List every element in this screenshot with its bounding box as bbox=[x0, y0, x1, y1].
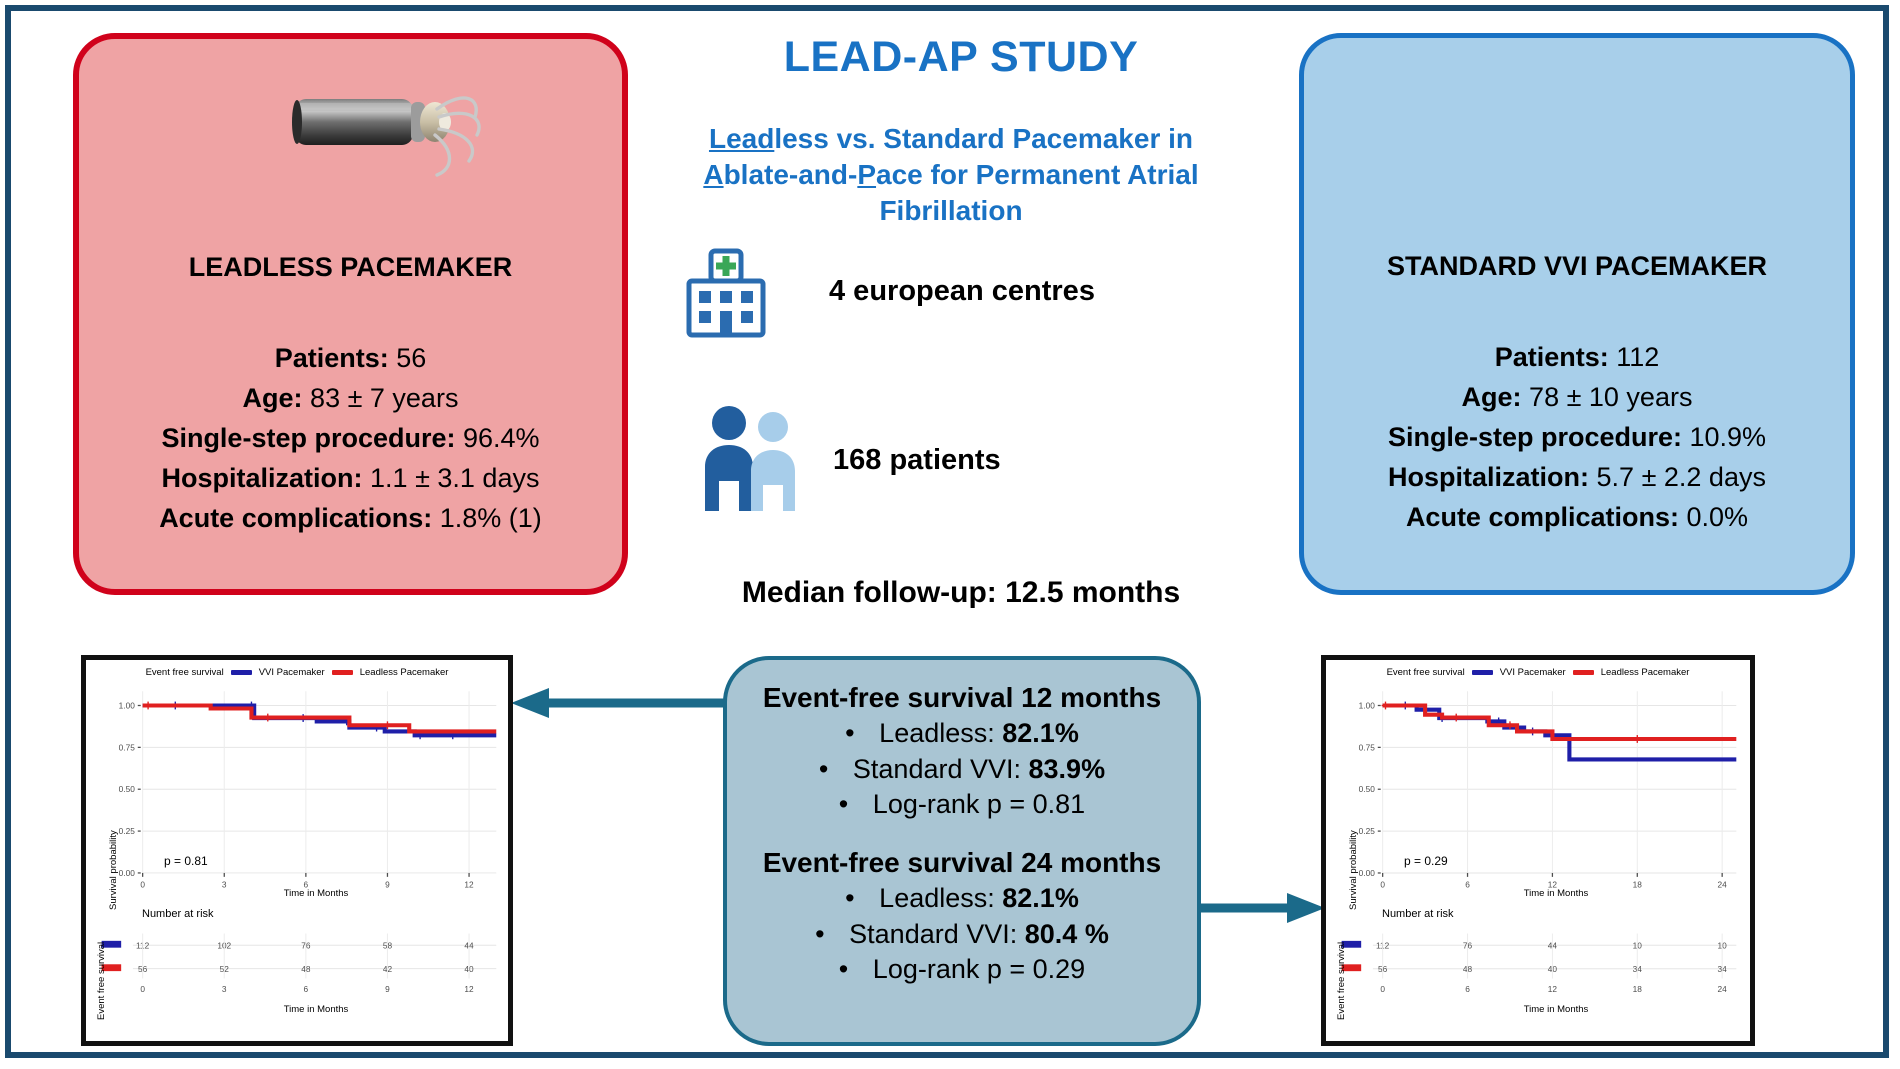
svg-text:0.75: 0.75 bbox=[1359, 742, 1376, 752]
results-summary-box: Event-free survival 12 months •Leadless:… bbox=[723, 656, 1201, 1046]
km-chart-24-month: Event free survival VVI Pacemaker Leadle… bbox=[1321, 655, 1755, 1046]
stat-value: 96.4% bbox=[463, 423, 540, 453]
results-24m-item: •Log-rank p = 0.29 bbox=[745, 952, 1179, 988]
item-label: Log-rank p = 0.29 bbox=[873, 954, 1085, 984]
stat-row: Hospitalization: 1.1 ± 3.1 days bbox=[79, 459, 622, 499]
svg-text:12: 12 bbox=[1548, 984, 1558, 994]
stat-row: Age: 83 ± 7 years bbox=[79, 379, 622, 419]
stat-row: Single-step procedure: 96.4% bbox=[79, 419, 622, 459]
svg-text:1.00: 1.00 bbox=[1359, 700, 1376, 710]
item-value: 82.1% bbox=[1002, 718, 1079, 748]
results-12m-item: •Log-rank p = 0.81 bbox=[745, 787, 1179, 823]
svg-text:0: 0 bbox=[1380, 984, 1385, 994]
svg-text:0.75: 0.75 bbox=[119, 742, 136, 752]
centres-label: 4 european centres bbox=[829, 275, 1095, 308]
km-left-risk-axis-label: Event free survival bbox=[96, 942, 107, 1020]
stat-label: Age: bbox=[1462, 382, 1522, 412]
stat-label: Acute complications: bbox=[159, 503, 432, 533]
svg-text:6: 6 bbox=[1465, 984, 1470, 994]
subtitle-underline-a: A bbox=[703, 159, 723, 190]
stat-label: Hospitalization: bbox=[1388, 462, 1589, 492]
km-chart-12-month: Event free survival VVI Pacemaker Leadle… bbox=[81, 655, 513, 1046]
km-plot-left: 0.000.250.500.751.0003691211210276584456… bbox=[86, 660, 508, 1042]
stat-value: 78 ± 10 years bbox=[1529, 382, 1692, 412]
leadless-pacemaker-capsule-icon bbox=[269, 77, 499, 207]
hospital-icon bbox=[683, 241, 801, 341]
stat-value: 1.1 ± 3.1 days bbox=[370, 463, 539, 493]
item-label: Leadless: bbox=[879, 883, 1002, 913]
stat-value: 112 bbox=[1616, 342, 1659, 372]
patients-row: 168 patients bbox=[691, 401, 1001, 519]
km-right-risk-xlabel: Time in Months bbox=[1386, 1004, 1726, 1015]
svg-text:0.50: 0.50 bbox=[119, 784, 136, 794]
subtitle-line2-b: blate-and- bbox=[724, 159, 858, 190]
stat-value: 1.8% (1) bbox=[440, 503, 542, 533]
left-panel-stats: Patients: 56 Age: 83 ± 7 years Single-st… bbox=[79, 339, 622, 539]
subtitle-line3: Fibrillation bbox=[879, 195, 1022, 226]
subtitle-underline-p: P bbox=[857, 159, 876, 190]
page-title: LEAD-AP STUDY bbox=[651, 33, 1271, 82]
results-12m-item: •Leadless: 82.1% bbox=[745, 716, 1179, 752]
spacer bbox=[745, 823, 1179, 847]
left-panel-title: LEADLESS PACEMAKER bbox=[79, 252, 622, 283]
km-left-risk-title: Number at risk bbox=[142, 908, 214, 920]
item-value: 80.4 % bbox=[1025, 919, 1109, 949]
svg-text:9: 9 bbox=[385, 984, 390, 994]
item-label: Standard VVI: bbox=[849, 919, 1025, 949]
svg-text:0: 0 bbox=[1380, 880, 1385, 890]
bullet-icon: • bbox=[819, 752, 853, 788]
subtitle-line1-rest: less vs. Standard Pacemaker in bbox=[774, 123, 1193, 154]
stat-value: 83 ± 7 years bbox=[310, 383, 458, 413]
stat-value: 10.9% bbox=[1690, 422, 1767, 452]
svg-text:0: 0 bbox=[140, 984, 145, 994]
item-label: Log-rank p = 0.81 bbox=[873, 789, 1085, 819]
svg-text:6: 6 bbox=[304, 984, 309, 994]
results-12m-item: •Standard VVI: 83.9% bbox=[745, 752, 1179, 788]
stat-label: Patients: bbox=[1495, 342, 1609, 372]
stat-value: 5.7 ± 2.2 days bbox=[1597, 462, 1766, 492]
svg-text:0.00: 0.00 bbox=[1359, 868, 1376, 878]
item-value: 83.9% bbox=[1029, 754, 1106, 784]
arrow-to-right-chart bbox=[1199, 891, 1325, 925]
svg-text:0: 0 bbox=[140, 880, 145, 890]
svg-text:0.00: 0.00 bbox=[119, 868, 136, 878]
km-left-pvalue: p = 0.81 bbox=[164, 854, 208, 868]
stat-label: Single-step procedure: bbox=[1388, 422, 1682, 452]
stat-row: Patients: 56 bbox=[79, 339, 622, 379]
stat-row: Acute complications: 0.0% bbox=[1304, 498, 1850, 538]
poster-frame: LEAD-AP STUDY Leadless vs. Standard Pace… bbox=[5, 5, 1889, 1058]
stat-row: Patients: 112 bbox=[1304, 338, 1850, 378]
svg-text:18: 18 bbox=[1633, 984, 1643, 994]
stat-value: 0.0% bbox=[1687, 502, 1749, 532]
results-24m-heading: Event-free survival 24 months bbox=[745, 847, 1179, 879]
subtitle-line2-d: ace for Permanent Atrial bbox=[876, 159, 1199, 190]
bullet-icon: • bbox=[845, 881, 879, 917]
svg-text:12: 12 bbox=[464, 984, 474, 994]
km-left-xlabel: Time in Months bbox=[146, 888, 486, 899]
results-24m-item: •Standard VVI: 80.4 % bbox=[745, 917, 1179, 953]
standard-vvi-pacemaker-panel: STANDARD VVI PACEMAKER Patients: 112 Age… bbox=[1299, 33, 1855, 595]
stat-label: Acute complications: bbox=[1406, 502, 1679, 532]
patients-label: 168 patients bbox=[833, 444, 1001, 477]
right-panel-stats: Patients: 112 Age: 78 ± 10 years Single-… bbox=[1304, 338, 1850, 538]
km-right-risk-title: Number at risk bbox=[1382, 908, 1454, 920]
bullet-icon: • bbox=[839, 787, 873, 823]
stat-value: 56 bbox=[396, 343, 426, 373]
svg-text:3: 3 bbox=[222, 984, 227, 994]
stat-row: Hospitalization: 5.7 ± 2.2 days bbox=[1304, 458, 1850, 498]
right-panel-title: STANDARD VVI PACEMAKER bbox=[1304, 251, 1850, 282]
km-plot-right: 0.000.250.500.751.0006121824112764410105… bbox=[1326, 660, 1750, 1042]
km-left-risk-xlabel: Time in Months bbox=[146, 1004, 486, 1015]
people-icon bbox=[691, 401, 809, 519]
item-label: Standard VVI: bbox=[853, 754, 1029, 784]
bullet-icon: • bbox=[815, 917, 849, 953]
km-right-xlabel: Time in Months bbox=[1386, 888, 1726, 899]
km-left-ylabel: Survival probability bbox=[108, 830, 119, 910]
svg-text:0.25: 0.25 bbox=[1359, 826, 1376, 836]
km-right-ylabel: Survival probability bbox=[1348, 830, 1359, 910]
bullet-icon: • bbox=[839, 952, 873, 988]
median-followup-label: Median follow-up: 12.5 months bbox=[631, 576, 1291, 610]
page-subtitle: Leadless vs. Standard Pacemaker in Ablat… bbox=[651, 121, 1251, 228]
results-24m-item: •Leadless: 82.1% bbox=[745, 881, 1179, 917]
svg-text:1.00: 1.00 bbox=[119, 700, 136, 710]
item-value: 82.1% bbox=[1002, 883, 1079, 913]
km-right-risk-axis-label: Event free survival bbox=[1336, 942, 1347, 1020]
stat-label: Age: bbox=[243, 383, 303, 413]
svg-text:0.50: 0.50 bbox=[1359, 784, 1376, 794]
svg-text:0.25: 0.25 bbox=[119, 826, 136, 836]
leadless-pacemaker-panel: LEADLESS PACEMAKER Patients: 56 Age: 83 … bbox=[73, 33, 628, 595]
stat-label: Single-step procedure: bbox=[161, 423, 455, 453]
arrow-to-left-chart bbox=[511, 686, 726, 720]
svg-text:24: 24 bbox=[1718, 984, 1728, 994]
results-12m-heading: Event-free survival 12 months bbox=[745, 682, 1179, 714]
centres-row: 4 european centres bbox=[683, 241, 1095, 341]
km-right-pvalue: p = 0.29 bbox=[1404, 854, 1448, 868]
item-label: Leadless: bbox=[879, 718, 1002, 748]
stat-row: Age: 78 ± 10 years bbox=[1304, 378, 1850, 418]
bullet-icon: • bbox=[845, 716, 879, 752]
stat-label: Hospitalization: bbox=[162, 463, 363, 493]
stat-row: Acute complications: 1.8% (1) bbox=[79, 499, 622, 539]
subtitle-underline-lead: Lead bbox=[709, 123, 774, 154]
stat-row: Single-step procedure: 10.9% bbox=[1304, 418, 1850, 458]
stat-label: Patients: bbox=[275, 343, 389, 373]
